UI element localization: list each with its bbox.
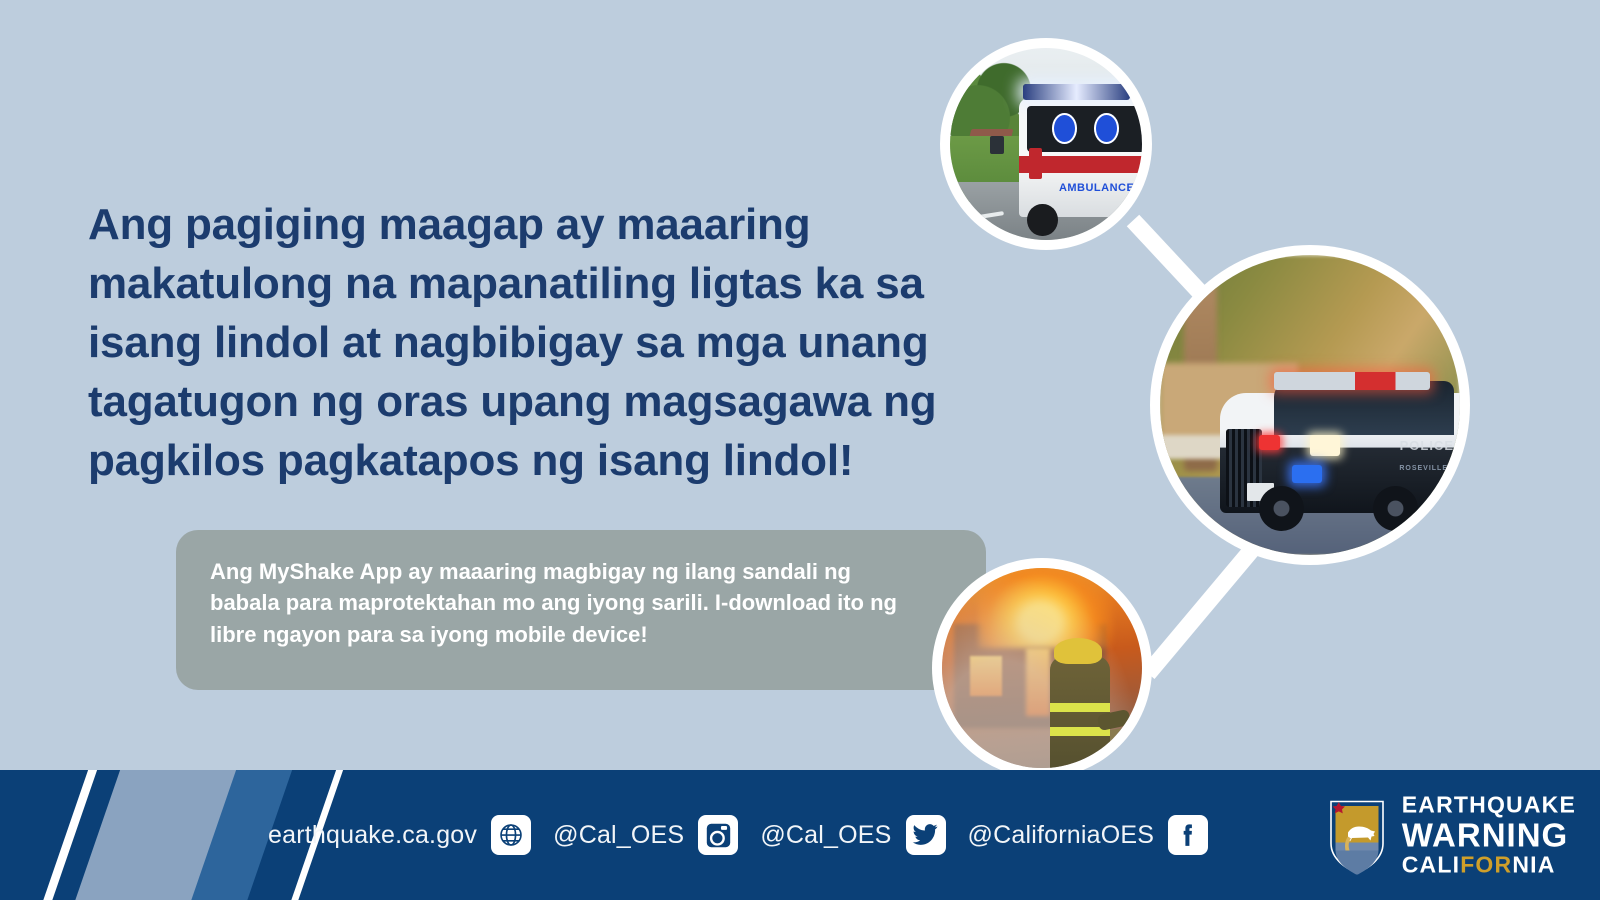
police-door-label: POLICE xyxy=(1400,438,1454,453)
police-headlight xyxy=(1310,435,1340,456)
ambulance-light-bar xyxy=(1023,84,1131,99)
twitter-handle-label[interactable]: @Cal_OES xyxy=(760,821,891,850)
globe-icon[interactable] xyxy=(491,815,531,855)
ambulance-side-mirror xyxy=(990,136,1003,153)
firefighter-reflective-band-upper xyxy=(1050,703,1110,712)
social-links-row: earthquake.ca.gov @Cal_OES @Cal_OES xyxy=(268,770,1230,900)
ambulance-star-of-life-icon-right xyxy=(1094,113,1119,144)
logo-line-warning: WARNING xyxy=(1402,819,1576,852)
photo-circle-police-car: POLICE ROSEVILLE xyxy=(1150,245,1470,565)
page-headline: Ang pagiging maagap ay maaaring makatulo… xyxy=(88,196,988,491)
earthquake-warning-california-logo: EARTHQUAKE WARNING CALIFORNIA xyxy=(1326,794,1576,877)
facebook-handle-label[interactable]: @CaliforniaOES xyxy=(968,821,1155,850)
ambulance-label: AMBULANCE xyxy=(1059,182,1134,194)
ambulance-star-of-life-icon-left xyxy=(1052,113,1077,144)
police-light-bar xyxy=(1274,372,1430,390)
police-blue-strobe xyxy=(1292,465,1322,483)
firefighter-body xyxy=(1050,656,1110,768)
website-label[interactable]: earthquake.ca.gov xyxy=(268,821,477,850)
instagram-handle-label[interactable]: @Cal_OES xyxy=(553,821,684,850)
firefighter-helmet xyxy=(1054,638,1102,664)
ambulance-tail-light xyxy=(1029,148,1042,179)
logo-line-california: CALIFORNIA xyxy=(1402,854,1576,877)
instagram-icon[interactable] xyxy=(698,815,738,855)
california-shield-icon xyxy=(1326,796,1388,874)
photo-circle-ambulance: AMBULANCE xyxy=(940,38,1152,250)
logo-nia: NIA xyxy=(1512,852,1555,878)
logo-wordmark: EARTHQUAKE WARNING CALIFORNIA xyxy=(1402,794,1576,877)
footer-bar: earthquake.ca.gov @Cal_OES @Cal_OES xyxy=(0,770,1600,900)
myshake-callout-box: Ang MyShake App ay maaaring magbigay ng … xyxy=(176,530,986,690)
logo-cali: CALI xyxy=(1402,852,1460,878)
ambulance-wheel xyxy=(1027,204,1058,237)
ambulance-rear-window xyxy=(1027,106,1142,152)
police-front-wheel xyxy=(1259,486,1304,531)
myshake-callout-text: Ang MyShake App ay maaaring magbigay ng … xyxy=(210,556,910,650)
police-red-strobe xyxy=(1259,435,1280,450)
photo-cluster: AMBULANCE POLICE ROSEVILLE xyxy=(900,0,1600,800)
police-rear-wheel xyxy=(1373,486,1418,531)
twitter-icon[interactable] xyxy=(906,815,946,855)
facebook-icon[interactable] xyxy=(1168,815,1208,855)
photo-circle-firefighter xyxy=(932,558,1152,778)
logo-for: FOR xyxy=(1460,852,1512,878)
police-door-sublabel: ROSEVILLE xyxy=(1399,465,1448,472)
logo-line-earthquake: EARTHQUAKE xyxy=(1402,794,1576,817)
